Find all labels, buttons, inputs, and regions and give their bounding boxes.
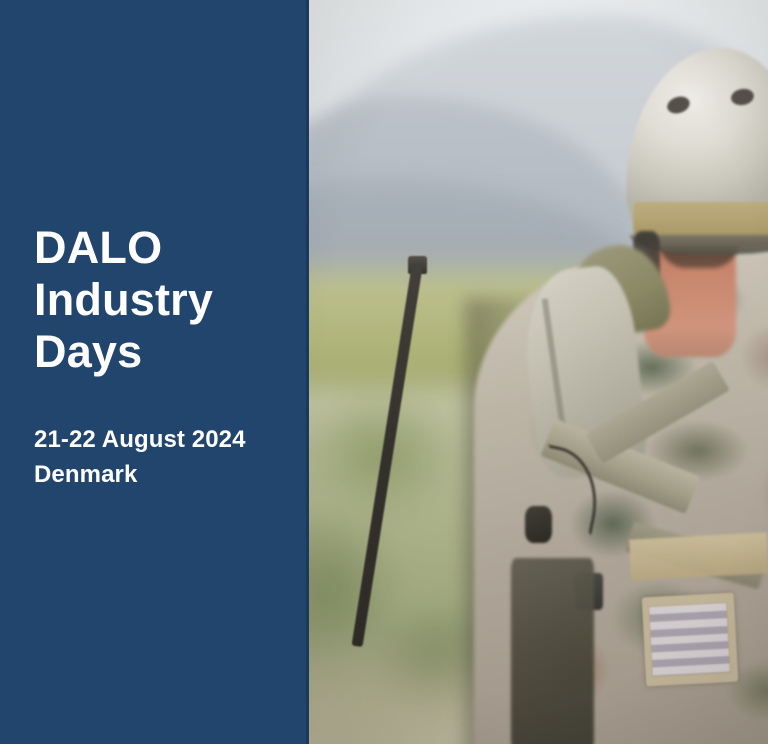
flag-patch	[642, 593, 738, 687]
radio-connector	[525, 506, 553, 543]
velcro-strip	[629, 532, 768, 580]
brand-text-block: DALO Industry Days 21-22 August 2024 Den…	[34, 222, 292, 492]
flag-patch-stripes	[649, 602, 732, 677]
soldier-figure	[309, 0, 768, 744]
brand-panel: DALO Industry Days 21-22 August 2024 Den…	[0, 0, 309, 744]
field-radio	[511, 558, 594, 744]
page-title: DALO Industry Days	[34, 222, 292, 378]
hero-photo	[309, 0, 768, 744]
event-meta: 21-22 August 2024 Denmark	[34, 422, 292, 492]
dalo-industry-days-poster: DALO Industry Days 21-22 August 2024 Den…	[0, 0, 768, 744]
radio-antenna	[352, 263, 423, 647]
event-dates: 21-22 August 2024	[34, 422, 292, 457]
event-location: Denmark	[34, 457, 292, 492]
